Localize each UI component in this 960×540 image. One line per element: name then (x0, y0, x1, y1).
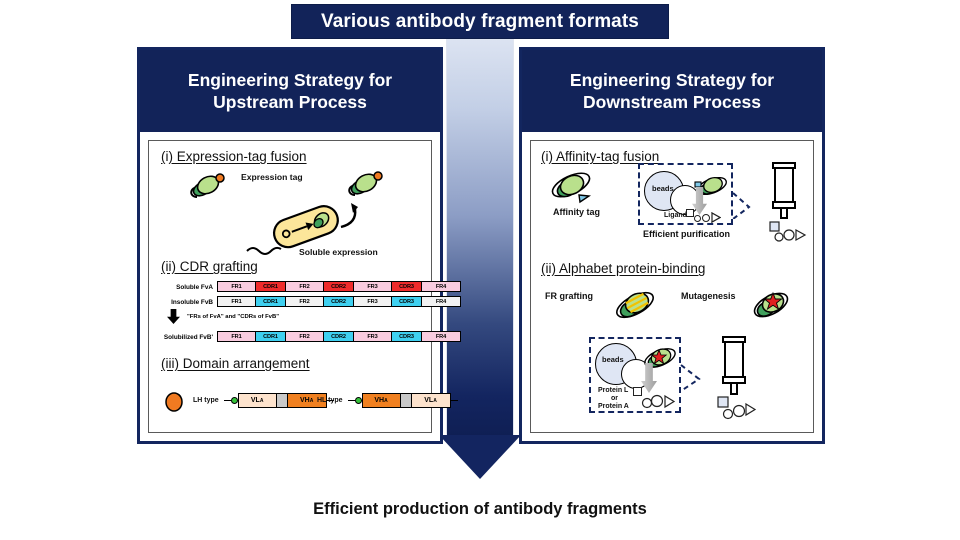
protein-or-label: or (611, 395, 618, 402)
panel-upstream: Engineering Strategy for Upstream Proces… (137, 47, 443, 444)
fv-segment-cdr3: CDR3 (392, 297, 422, 306)
fv-segment-cdr3: CDR3 (392, 332, 422, 341)
hl-domain-vh: VHA (363, 394, 401, 407)
fv-segment-fr1: FR1 (218, 332, 256, 341)
fv-segment-fr3: FR3 (354, 297, 392, 306)
antibody-fr-grafted-icon (611, 287, 651, 317)
domain-blob-icon (163, 391, 187, 418)
fv-segment-bar: FR1CDR1FR2CDR2FR3CDR3FR4 (217, 331, 461, 342)
affinity-connector-line (731, 189, 771, 219)
section-expression-tag-title: (i) Expression-tag fusion (161, 149, 307, 164)
panel-upstream-header: Engineering Strategy for Upstream Proces… (140, 50, 440, 132)
mutagenesis-label: Mutagenesis (681, 291, 736, 301)
hl-type-label: HL type (317, 397, 343, 404)
fv-segment-fr1: FR1 (218, 282, 256, 291)
fv-segment-cdr1: CDR1 (256, 297, 286, 306)
fv-row-label: Solubilized FvB' (149, 334, 213, 341)
panel-upstream-title-line1: Engineering Strategy for (188, 69, 392, 91)
fv-segment-fr4: FR4 (422, 297, 460, 306)
domain-arrangement-lh: LH type VLA VHA (193, 393, 334, 408)
affinity-impurity-triangle (711, 212, 720, 222)
panel-downstream-title-line2: Downstream Process (583, 91, 761, 113)
alphabet-beads-label: beads (602, 355, 624, 364)
fv-segment-fr2: FR2 (286, 332, 324, 341)
alphabet-bound-antibody-icon (639, 345, 679, 375)
arrow-head (439, 435, 521, 479)
fv-row-label: Soluble FvA (149, 284, 213, 291)
fv-row-label: Insoluble FvB (149, 299, 213, 306)
fv-segment-fr2: FR2 (286, 282, 324, 291)
expression-tag-label: Expression tag (241, 172, 303, 182)
panel-downstream-body: (i) Affinity-tag fusion Affinity tag bea… (530, 140, 814, 433)
lh-domain-bar: VLA VHA (238, 393, 327, 408)
fv-segment-fr2: FR2 (286, 297, 324, 306)
fv-segment-cdr2: CDR2 (324, 332, 354, 341)
lh-left-stub (224, 400, 231, 402)
affinity-column-icon (767, 161, 801, 226)
lh-linker-segment (277, 394, 288, 407)
domain-arrangement-hl: HL type VHA VLA (317, 393, 458, 408)
grafting-note: "FRs of FvA" and "CDRs of FvB" (187, 314, 279, 320)
panel-upstream-title-line2: Upstream Process (213, 91, 367, 113)
section-affinity-tag-title: (i) Affinity-tag fusion (541, 149, 659, 164)
affinity-column-output-shapes (769, 221, 809, 250)
antibody-mutagenized-icon (749, 287, 789, 317)
section-cdr-grafting-title: (ii) CDR grafting (161, 259, 258, 274)
bottom-caption: Efficient production of antibody fragmen… (0, 500, 960, 519)
alphabet-impurity-shapes (641, 393, 677, 413)
affinity-impurity-circle-1 (694, 215, 701, 222)
lh-vh-subscript: A (310, 398, 314, 404)
fv-segment-cdr1: CDR1 (256, 282, 286, 291)
panel-upstream-body: (i) Expression-tag fusion Expression tag (148, 140, 432, 433)
antibody-with-expression-tag-icon (187, 171, 227, 201)
hl-linker-knob (355, 397, 362, 404)
hl-domain-bar: VHA VLA (362, 393, 451, 408)
alphabet-purification-box: beads Protein L or Protein A (589, 337, 681, 413)
section-domain-arrangement-title: (iii) Domain arrangement (161, 356, 310, 371)
fv-segment-fr3: FR3 (354, 282, 392, 291)
panel-downstream-title-line1: Engineering Strategy for (570, 69, 774, 91)
antibody-with-affinity-tag-icon (547, 169, 587, 199)
hl-vl-subscript: A (433, 398, 437, 404)
lh-vl-subscript: A (260, 398, 264, 404)
fv-segment-bar: FR1CDR1FR2CDR2FR3CDR3FR4 (217, 296, 461, 307)
panel-downstream: Engineering Strategy for Downstream Proc… (519, 47, 825, 444)
alphabet-connector-line (679, 363, 721, 393)
hl-vh-subscript: A (384, 398, 388, 404)
efficient-purification-label: Efficient purification (643, 229, 730, 239)
process-flow-arrow (446, 36, 514, 478)
alphabet-column-output-shapes (717, 395, 759, 426)
fv-segment-fr4: FR4 (422, 332, 460, 341)
fv-segment-fr3: FR3 (354, 332, 392, 341)
protein-l-label: Protein L (598, 387, 628, 394)
fv-segment-cdr2: CDR2 (324, 282, 354, 291)
figure-canvas: Various antibody fragment formats Engine… (0, 0, 960, 540)
fv-segment-cdr3: CDR3 (392, 282, 422, 291)
fv-segment-fr4: FR4 (422, 282, 460, 291)
lh-type-label: LH type (193, 397, 219, 404)
protein-a-label: Protein A (598, 403, 629, 410)
grafting-arrow-icon (167, 309, 180, 324)
hl-right-stub (451, 400, 458, 402)
affinity-purification-box: beads Ligand (638, 163, 733, 225)
figure-title-banner: Various antibody fragment formats (291, 4, 669, 39)
hl-linker-segment (401, 394, 412, 407)
fv-segment-fr1: FR1 (218, 297, 256, 306)
affinity-impurity-circle-2 (702, 214, 710, 222)
figure-title: Various antibody fragment formats (321, 11, 639, 33)
fv-segment-cdr2: CDR2 (324, 297, 354, 306)
affinity-beads-label: beads (652, 184, 674, 193)
arrow-shaft (446, 36, 514, 436)
lh-linker-knob (231, 397, 238, 404)
hl-domain-vl: VLA (412, 394, 450, 407)
affinity-tag-label: Affinity tag (553, 207, 600, 217)
fv-segment-bar: FR1CDR1FR2CDR2FR3CDR3FR4 (217, 281, 461, 292)
lh-domain-vl: VLA (239, 394, 277, 407)
panel-downstream-header: Engineering Strategy for Downstream Proc… (522, 50, 822, 132)
soluble-expression-label: Soluble expression (299, 247, 378, 257)
fr-grafting-label: FR grafting (545, 291, 593, 301)
affinity-ligand-label: Ligand (664, 212, 687, 219)
fv-segment-cdr1: CDR1 (256, 332, 286, 341)
antibody-soluble-icon (345, 169, 385, 199)
alphabet-column-icon (717, 335, 751, 402)
hl-left-stub (348, 400, 355, 402)
section-alphabet-protein-title: (ii) Alphabet protein-binding (541, 261, 705, 276)
affinity-impurity-square (686, 209, 694, 217)
